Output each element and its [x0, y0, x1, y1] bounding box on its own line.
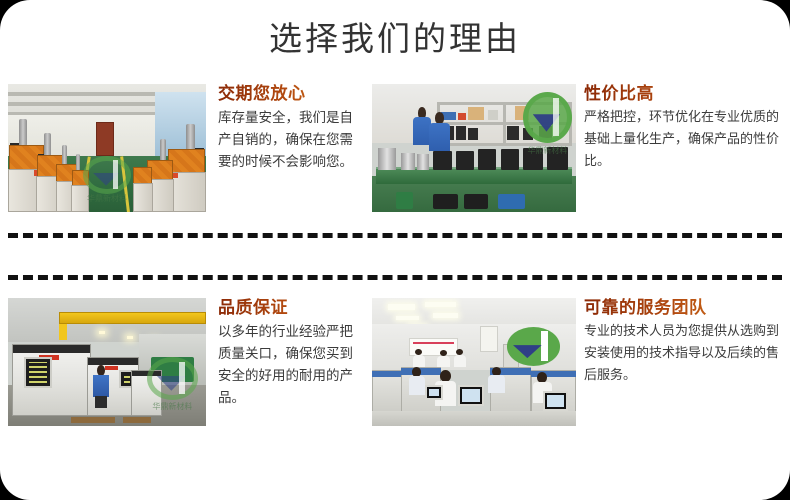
- feature-text-quality: 品质保证 以多年的行业经验严把质量关口，确保您买到安全的好用的耐用的产品。: [218, 296, 366, 409]
- feature-card-delivery: 华鼎新材料 交期您放心 库存量安全，我们是自产自销的，确保在您需要的时候不会影响…: [8, 82, 366, 230]
- feature-text-delivery: 交期您放心 库存量安全，我们是自产自销的，确保在您需要的时候不会影响您。: [218, 82, 366, 173]
- feature-card-value: 华鼎新材料 性价比高 严格把控，环节优化在专业优质的基础上量化生产，确保产品的性…: [372, 82, 782, 230]
- feature-text-value: 性价比高 严格把控，环节优化在专业优质的基础上量化生产，确保产品的性价比。: [584, 82, 780, 173]
- feature-heading-value: 性价比高: [584, 82, 780, 106]
- feature-row-bottom: 华鼎新材料 品质保证 以多年的行业经验严把质量关口，确保您买到安全的好用的耐用的…: [0, 296, 790, 444]
- promo-banner: 选择我们的理由: [0, 0, 790, 500]
- feature-body-value: 严格把控，环节优化在专业优质的基础上量化生产，确保产品的性价比。: [584, 107, 780, 173]
- divider-top: [8, 233, 782, 238]
- feature-body-quality: 以多年的行业经验严把质量关口，确保您买到安全的好用的耐用的产品。: [218, 321, 366, 409]
- feature-body-delivery: 库存量安全，我们是自产自销的，确保在您需要的时候不会影响您。: [218, 107, 366, 173]
- feature-heading-quality: 品质保证: [218, 296, 366, 320]
- feature-photo-quality: 华鼎新材料: [8, 298, 206, 426]
- feature-heading-service: 可靠的服务团队: [584, 296, 780, 320]
- feature-heading-delivery: 交期您放心: [218, 82, 366, 106]
- feature-row-top: 华鼎新材料 交期您放心 库存量安全，我们是自产自销的，确保在您需要的时候不会影响…: [0, 82, 790, 230]
- feature-body-service: 专业的技术人员为您提供从选购到安装使用的技术指导以及后续的售后服务。: [584, 321, 780, 387]
- feature-card-quality: 华鼎新材料 品质保证 以多年的行业经验严把质量关口，确保您买到安全的好用的耐用的…: [8, 296, 366, 444]
- feature-photo-value: 华鼎新材料: [372, 84, 576, 212]
- assembly-workshop-scene: 华鼎新材料: [372, 84, 576, 212]
- factory-moulding-scene: 华鼎新材料: [8, 84, 206, 212]
- feature-card-service: 可靠的服务团队 专业的技术人员为您提供从选购到安装使用的技术指导以及后续的售后服…: [372, 296, 782, 444]
- cnc-machining-scene: 华鼎新材料: [8, 298, 206, 426]
- page-title-bar: 选择我们的理由: [0, 0, 790, 72]
- feature-photo-delivery: 华鼎新材料: [8, 84, 206, 212]
- office-team-scene: [372, 298, 576, 426]
- page-title: 选择我们的理由: [269, 12, 521, 60]
- divider-bottom: [8, 275, 782, 280]
- feature-text-service: 可靠的服务团队 专业的技术人员为您提供从选购到安装使用的技术指导以及后续的售后服…: [584, 296, 780, 387]
- feature-photo-service: [372, 298, 576, 426]
- company-logo-icon: [507, 327, 560, 365]
